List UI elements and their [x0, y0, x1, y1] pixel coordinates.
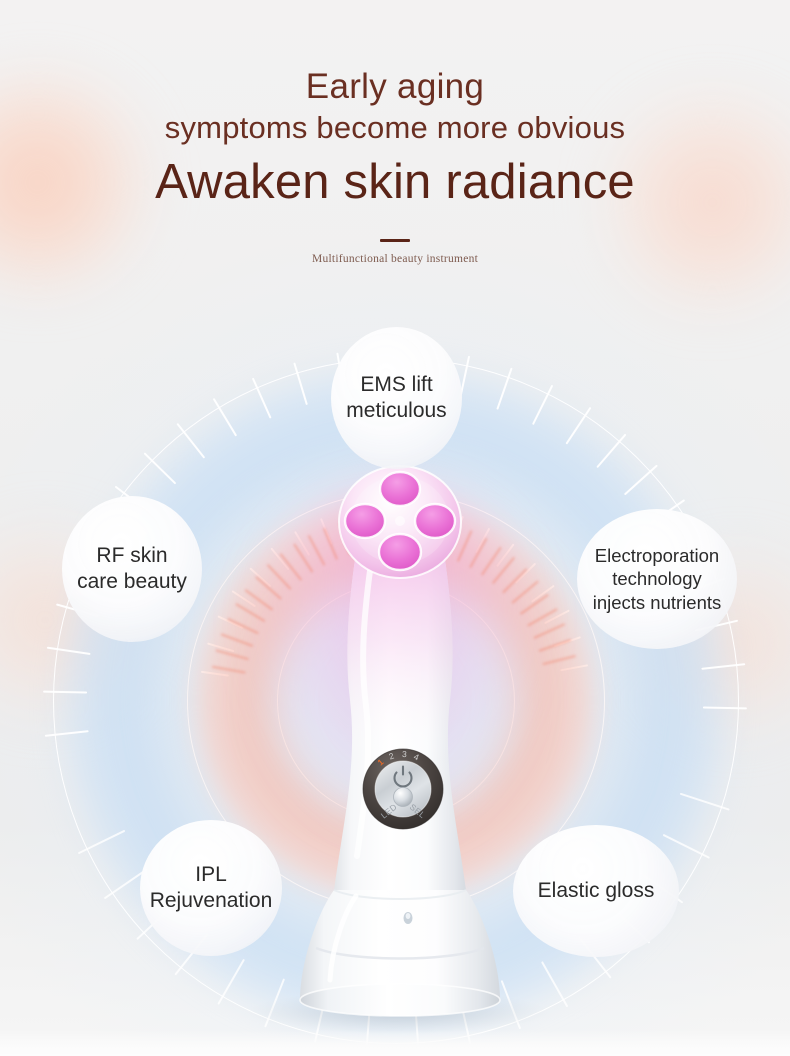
bottom-fade — [0, 1030, 790, 1056]
feature-rf-line-2: care beauty — [77, 569, 187, 595]
headline-block: Early aging symptoms become more obvious… — [0, 0, 790, 265]
feature-bubble-rf[interactable]: RF skin care beauty — [62, 496, 202, 642]
headline-line-1: Early aging — [0, 68, 790, 105]
dial-level-3[interactable]: 3 — [402, 749, 408, 759]
feature-ems-line-1: EMS lift — [346, 372, 446, 398]
subtitle: Multifunctional beauty instrument — [0, 253, 790, 265]
feature-bubble-ems[interactable]: EMS lift meticulous — [331, 327, 462, 469]
headline-line-2: symptoms become more obvious — [0, 111, 790, 146]
feature-ems-line-2: meticulous — [346, 398, 446, 424]
page-title: Awaken skin radiance — [0, 156, 790, 210]
feature-electroporation-line-1: Electroporation — [593, 544, 722, 567]
feature-bubble-ipl[interactable]: IPL Rejuvenation — [140, 820, 282, 956]
feature-ipl-line-1: IPL — [150, 862, 273, 888]
product-banner: Early aging symptoms become more obvious… — [0, 0, 790, 1056]
feature-electroporation-line-2: technology — [593, 567, 722, 590]
pink-head-glow — [245, 490, 545, 830]
title-divider — [380, 239, 410, 242]
feature-ipl-line-2: Rejuvenation — [150, 888, 273, 914]
feature-rf-line-1: RF skin — [77, 543, 187, 569]
feature-bubble-elastic-gloss[interactable]: Elastic gloss — [513, 825, 679, 957]
feature-electroporation-line-3: injects nutrients — [593, 591, 722, 614]
feature-bubble-electroporation[interactable]: Electroporation technology injects nutri… — [577, 509, 737, 649]
feature-gloss-line-1: Elastic gloss — [538, 878, 655, 904]
